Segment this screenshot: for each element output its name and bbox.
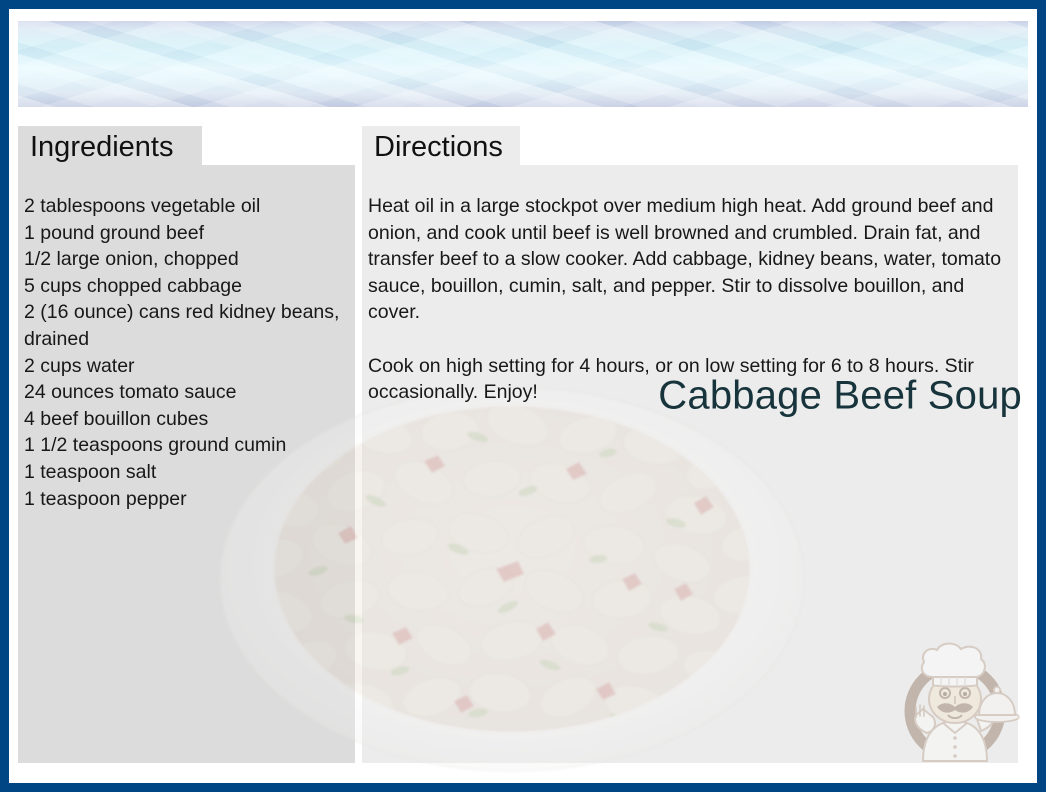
banner-sheen-overlay <box>18 21 1028 107</box>
list-item: 24 ounces tomato sauce <box>24 379 346 406</box>
ingredients-list: 2 tablespoons vegetable oil 1 pound grou… <box>24 193 346 512</box>
title-banner <box>18 21 1028 107</box>
directions-paragraph: Heat oil in a large stockpot over medium… <box>368 193 1008 326</box>
directions-section-tab: Directions <box>362 126 520 168</box>
list-item: 1/2 large onion, chopped <box>24 246 346 273</box>
list-item: 1 teaspoon pepper <box>24 486 346 513</box>
chef-mascot-logo <box>893 637 1021 765</box>
recipe-card-page: Cabbage Beef Soup <box>0 0 1046 792</box>
list-item: 2 tablespoons vegetable oil <box>24 193 346 220</box>
ingredients-heading: Ingredients <box>30 133 174 162</box>
directions-text: Heat oil in a large stockpot over medium… <box>368 193 1008 406</box>
directions-heading: Directions <box>374 133 503 162</box>
list-item: 4 beef bouillon cubes <box>24 406 346 433</box>
directions-paragraph: Cook on high setting for 4 hours, or on … <box>368 353 1008 406</box>
ingredients-section-tab: Ingredients <box>18 126 202 168</box>
list-item: 1 teaspoon salt <box>24 459 346 486</box>
list-item: 1 pound ground beef <box>24 220 346 247</box>
list-item: 1 1/2 teaspoons ground cumin <box>24 432 346 459</box>
list-item: 2 cups water <box>24 353 346 380</box>
list-item: 5 cups chopped cabbage <box>24 273 346 300</box>
list-item: 2 (16 ounce) cans red kidney beans, drai… <box>24 299 346 352</box>
